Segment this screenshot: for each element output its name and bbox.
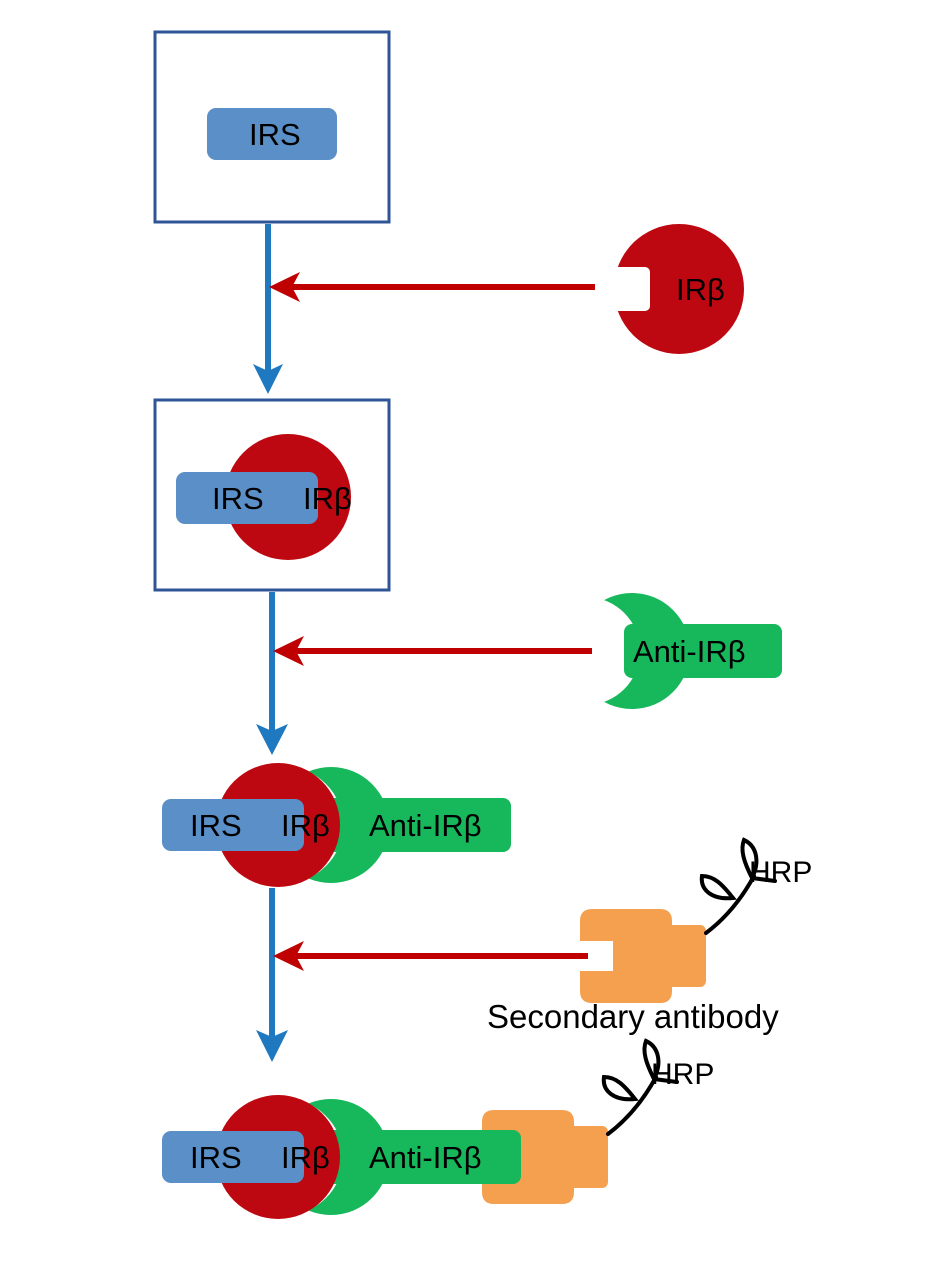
irs-shape-1 [207, 108, 337, 160]
reagent-arrow-2 [273, 636, 592, 666]
irs-shape-2 [176, 472, 318, 524]
irb-reagent-shape [614, 224, 744, 354]
diagram-graphics [0, 0, 934, 1272]
vertical-arrow-2 [256, 592, 288, 755]
reagent-arrow-3 [273, 941, 588, 971]
step-3-complex [162, 763, 511, 887]
vertical-arrow-1 [253, 224, 283, 394]
secondary-antibody-shape [580, 909, 706, 1003]
hrp-tail-bound [604, 1041, 677, 1134]
step-4-complex [162, 1095, 608, 1219]
diagram-canvas: IRS IRβ IRS IRβ Anti-IRβ IRS IRβ Anti-IR… [0, 0, 934, 1272]
reagent-arrow-1 [269, 272, 595, 302]
hrp-tail-reagent [702, 840, 775, 933]
anti-irb-reagent-shape [574, 593, 782, 709]
vertical-arrow-3 [256, 888, 288, 1062]
